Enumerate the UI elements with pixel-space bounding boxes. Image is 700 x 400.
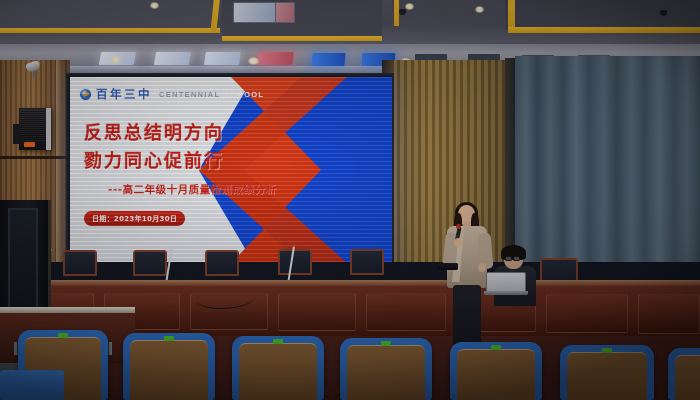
panel-light-2: [154, 52, 191, 65]
ceiling-camera-icon: [399, 9, 406, 15]
stage-chair-1[interactable]: [63, 250, 97, 276]
panel-light-3: [204, 52, 241, 65]
logo-english-centennial: CENTENNIAL: [159, 90, 220, 99]
panel-light-4: [257, 52, 294, 65]
slide-date-badge: 日期：2023年10月30日: [84, 211, 185, 226]
audience-chair-3[interactable]: [232, 336, 324, 400]
chair-tag: [58, 333, 68, 338]
led-display-screen: 百年三中 CENTENNIAL SCHOOL 反思总结明方向 勠力同心促前行 -…: [66, 73, 394, 265]
school-emblem-icon: [79, 88, 92, 101]
school-logo: 百年三中 CENTENNIAL SCHOOL: [79, 86, 264, 102]
audience-chair-7[interactable]: [668, 348, 700, 400]
slide-title-line-1: 反思总结明方向: [84, 119, 224, 145]
audience-chair-2[interactable]: [123, 333, 215, 400]
audience-chair-5[interactable]: [450, 342, 542, 400]
presentation-slide: 百年三中 CENTENNIAL SCHOOL 反思总结明方向 勠力同心促前行 -…: [70, 77, 392, 263]
audience-chair-4[interactable]: [340, 338, 432, 400]
stage-chair-2[interactable]: [133, 250, 167, 276]
stage-chair-3[interactable]: [205, 250, 239, 276]
audience-seat-front-left[interactable]: [0, 370, 64, 400]
wall-speaker: [19, 108, 51, 150]
panel-light-5: [311, 53, 345, 66]
stage-chair-5[interactable]: [350, 249, 384, 275]
speaker-bracket: [13, 124, 20, 144]
held-notebook: [438, 263, 458, 270]
logo-chinese-text: 百年三中: [96, 86, 152, 102]
logo-english-school: SCHOOL: [224, 90, 264, 99]
conference-hall-photo: 百年三中 CENTENNIAL SCHOOL 反思总结明方向 勠力同心促前行 -…: [0, 0, 700, 400]
speaker-brand-badge: [24, 142, 35, 147]
ceiling-camera-icon-2: [660, 10, 667, 16]
slide-subtitle: ---高二年级十月质量检测成绩分析: [108, 182, 277, 197]
stage-chair-4[interactable]: [278, 249, 312, 275]
slide-title-line-2: 勠力同心促前行: [84, 147, 224, 173]
laptop[interactable]: [484, 272, 528, 296]
audience-chair-6[interactable]: [560, 345, 654, 400]
